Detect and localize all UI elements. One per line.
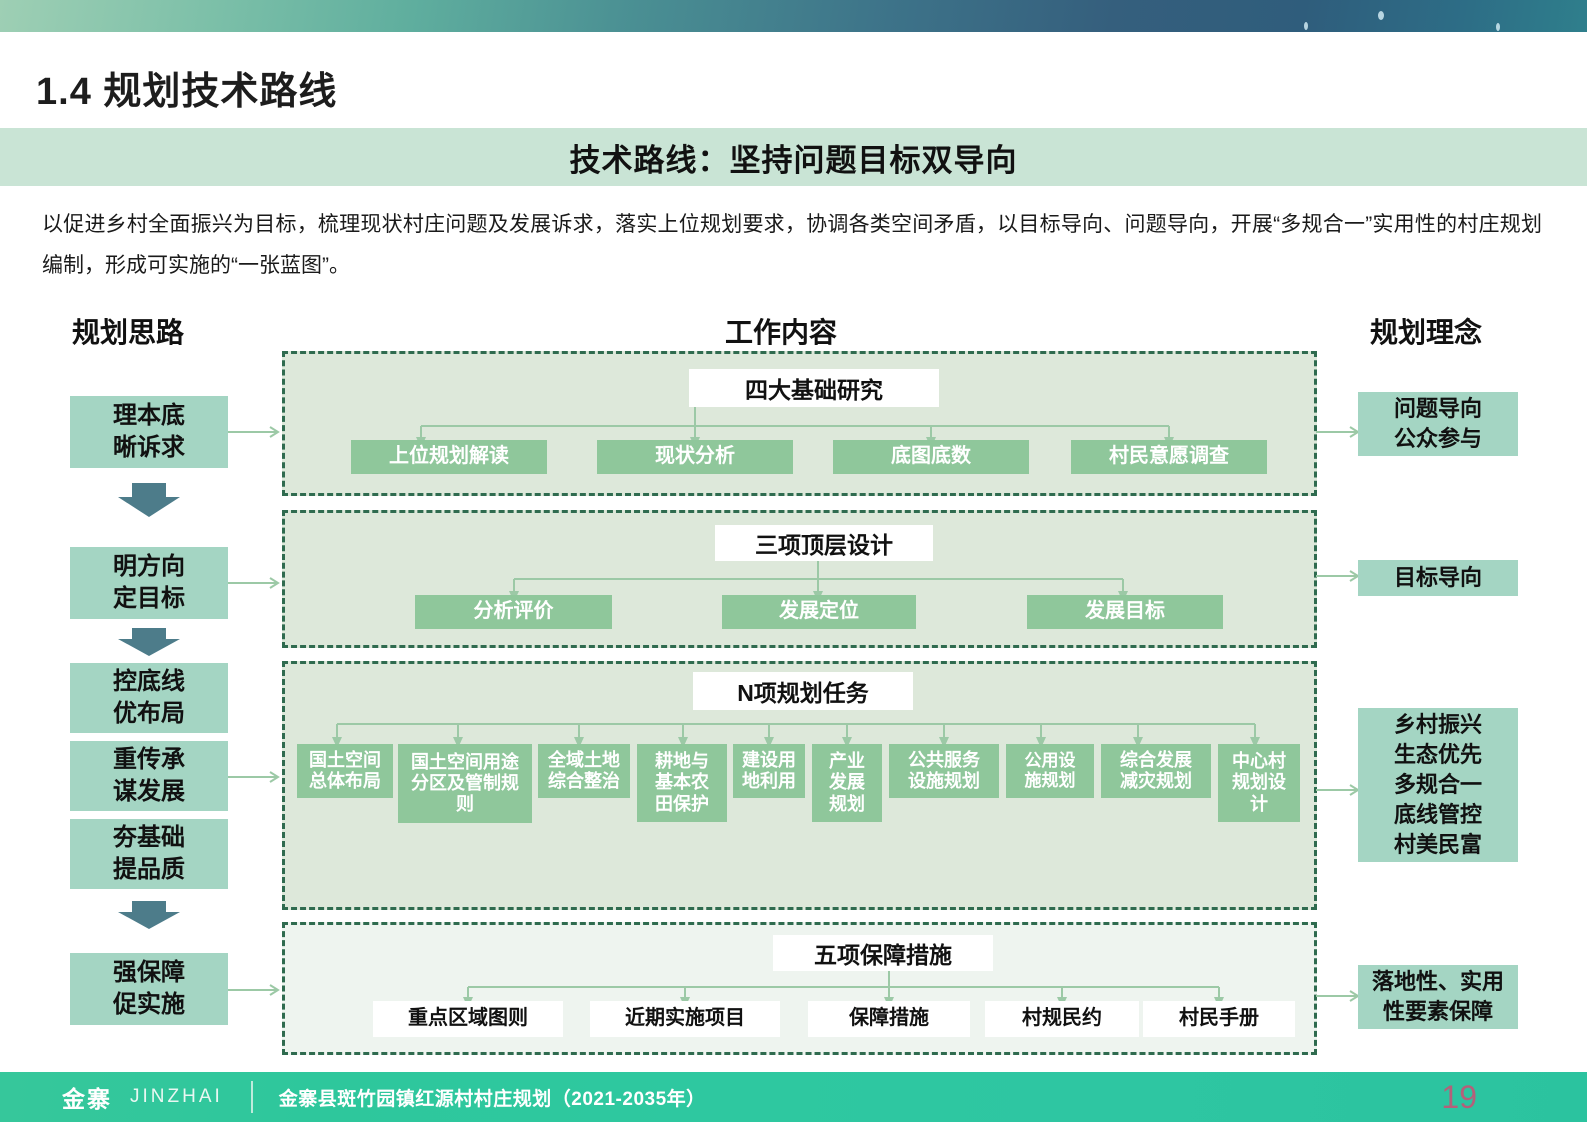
node-box[interactable]: 耕地与基本农田保护 [637,744,727,822]
section-title-box: 三项顶层设计 [715,525,933,561]
node-label: 近期实施项目 [625,1007,745,1031]
column-header-planning-concept: 规划理念 [1370,311,1482,351]
node-box[interactable]: 综合发展减灾规划 [1101,744,1211,798]
node-box[interactable]: 保障措施 [808,1001,970,1037]
section-banner: 技术路线：坚持问题目标双导向 [0,128,1587,186]
left-step-box-1[interactable]: 理本底晰诉求 [70,396,228,468]
banner-title: 技术路线：坚持问题目标双导向 [570,135,1018,180]
node-label: 上位规划解读 [389,445,509,469]
node-box[interactable]: 中心村规划设计 [1218,744,1300,822]
right-concept-label: 目标导向 [1394,563,1482,593]
feed-arrow-right-1 [1316,424,1364,440]
node-label: 村规民约 [1022,1007,1102,1031]
footer-document-title: 金寨县斑竹园镇红源村村庄规划（2021-2035年） [279,1084,706,1111]
node-label: 保障措施 [849,1007,929,1031]
section-title-label: 五项保障措施 [814,936,952,970]
right-concept-box-2[interactable]: 目标导向 [1358,560,1518,596]
footer-brand-cn: 金寨 [62,1080,112,1114]
down-arrow-icon [118,483,180,517]
left-step-box-6[interactable]: 强保障促实施 [70,953,228,1025]
left-step-box-2[interactable]: 明方向定目标 [70,547,228,619]
left-step-box-5[interactable]: 夯基础提品质 [70,819,228,889]
node-box[interactable]: 国土空间总体布局 [297,744,393,798]
decorative-header-band [0,0,1587,32]
node-box[interactable]: 上位规划解读 [351,440,547,474]
feed-arrow-right-4 [1316,988,1364,1004]
node-box[interactable]: 分析评价 [415,595,612,629]
column-header-work-content: 工作内容 [725,311,837,351]
node-box[interactable]: 发展定位 [722,595,916,629]
node-box[interactable]: 全域土地综合整治 [538,744,630,798]
node-label: 村民意愿调查 [1109,445,1229,469]
left-step-box-4[interactable]: 重传承谋发展 [70,741,228,811]
feed-arrow-2 [228,575,284,591]
footer-bar: 金寨 JINZHAI 金寨县斑竹园镇红源村村庄规划（2021-2035年） 19 [0,1072,1587,1122]
sparkle-dot [1304,22,1308,30]
node-box[interactable]: 近期实施项目 [590,1001,780,1037]
node-box[interactable]: 现状分析 [597,440,793,474]
node-label: 综合发展减灾规划 [1120,750,1192,792]
left-step-box-3[interactable]: 控底线优布局 [70,663,228,733]
node-label: 全域土地综合整治 [548,750,620,792]
sparkle-dot [1378,11,1384,20]
left-step-label: 强保障促实施 [113,957,185,1021]
node-box[interactable]: 发展目标 [1027,595,1223,629]
right-concept-label: 乡村振兴生态优先多规合一底线管控村美民富 [1394,710,1482,860]
node-label: 中心村规划设计 [1232,751,1286,815]
section-four-basic-studies: 四大基础研究 上位规划解读 现状分析 底图底数 村民意愿调查 [282,351,1317,496]
node-label: 产业发展规划 [829,751,865,815]
node-label: 公用设施规划 [1025,751,1076,791]
section-title-box: 五项保障措施 [773,935,993,971]
page-title: 1.4 规划技术路线 [36,60,337,115]
node-label: 发展定位 [779,600,859,624]
footer-brand-en: JINZHAI [130,1086,223,1108]
left-step-label: 控底线优布局 [113,666,185,730]
section-five-guarantee-measures: 五项保障措施 重点区域图则 近期实施项目 保障措施 村规民约 村民手册 [282,922,1317,1055]
node-box[interactable]: 公共服务设施规划 [889,744,999,798]
left-step-label: 重传承谋发展 [113,744,185,808]
section-title-box: N项规划任务 [693,672,913,710]
right-concept-label: 落地性、实用性要素保障 [1372,967,1504,1027]
feed-arrow-right-3 [1316,782,1364,798]
right-concept-box-3[interactable]: 乡村振兴生态优先多规合一底线管控村美民富 [1358,708,1518,862]
down-arrow-icon [118,901,180,935]
node-box[interactable]: 村规民约 [985,1001,1139,1037]
node-label: 建设用地利用 [742,750,796,792]
feed-arrow-4 [228,982,284,998]
sparkle-dot [1496,23,1500,31]
node-box[interactable]: 底图底数 [833,440,1029,474]
node-box[interactable]: 村民手册 [1143,1001,1295,1037]
node-box[interactable]: 村民意愿调查 [1071,440,1267,474]
node-label: 公共服务设施规划 [908,750,980,792]
right-concept-box-1[interactable]: 问题导向公众参与 [1358,392,1518,456]
feed-arrow-right-2 [1316,568,1364,584]
left-step-label: 理本底晰诉求 [113,400,185,464]
node-box[interactable]: 重点区域图则 [373,1001,563,1037]
feed-arrow-3 [228,769,284,785]
node-label: 重点区域图则 [408,1007,528,1031]
node-box[interactable]: 公用设施规划 [1006,744,1094,798]
section-title-label: 四大基础研究 [745,371,883,405]
node-box[interactable]: 建设用地利用 [733,744,805,798]
node-label: 村民手册 [1179,1007,1259,1031]
footer-divider [251,1081,253,1113]
node-label: 底图底数 [891,445,971,469]
right-concept-label: 问题导向公众参与 [1394,394,1482,454]
node-box[interactable]: 国土空间用途分区及管制规则 [398,744,532,823]
section-title-label: N项规划任务 [737,674,869,708]
feed-arrow-1 [228,424,284,440]
node-label: 现状分析 [655,445,735,469]
node-label: 国土空间用途分区及管制规则 [411,752,519,816]
footer-page-number: 19 [1441,1079,1477,1116]
node-box[interactable]: 产业发展规划 [812,744,882,822]
intro-paragraph: 以促进乡村全面振兴为目标，梳理现状村庄问题及发展诉求，落实上位规划要求，协调各类… [42,204,1542,286]
section-title-label: 三项顶层设计 [755,526,893,560]
right-concept-box-4[interactable]: 落地性、实用性要素保障 [1358,965,1518,1029]
section-title-box: 四大基础研究 [689,369,939,407]
node-label: 国土空间总体布局 [309,750,381,792]
section-n-planning-tasks: N项规划任务 国土空间总体布局 国土空间用途分区及管制规则 全域土地综合整治 耕… [282,661,1317,910]
left-step-label: 明方向定目标 [113,551,185,615]
node-label: 发展目标 [1085,600,1165,624]
node-label: 耕地与基本农田保护 [655,751,709,815]
node-label: 分析评价 [474,600,554,624]
down-arrow-icon [118,628,180,662]
left-step-label: 夯基础提品质 [113,822,185,886]
column-header-planning-approach: 规划思路 [72,311,184,351]
section-three-toplevel-designs: 三项顶层设计 分析评价 发展定位 发展目标 [282,510,1317,648]
